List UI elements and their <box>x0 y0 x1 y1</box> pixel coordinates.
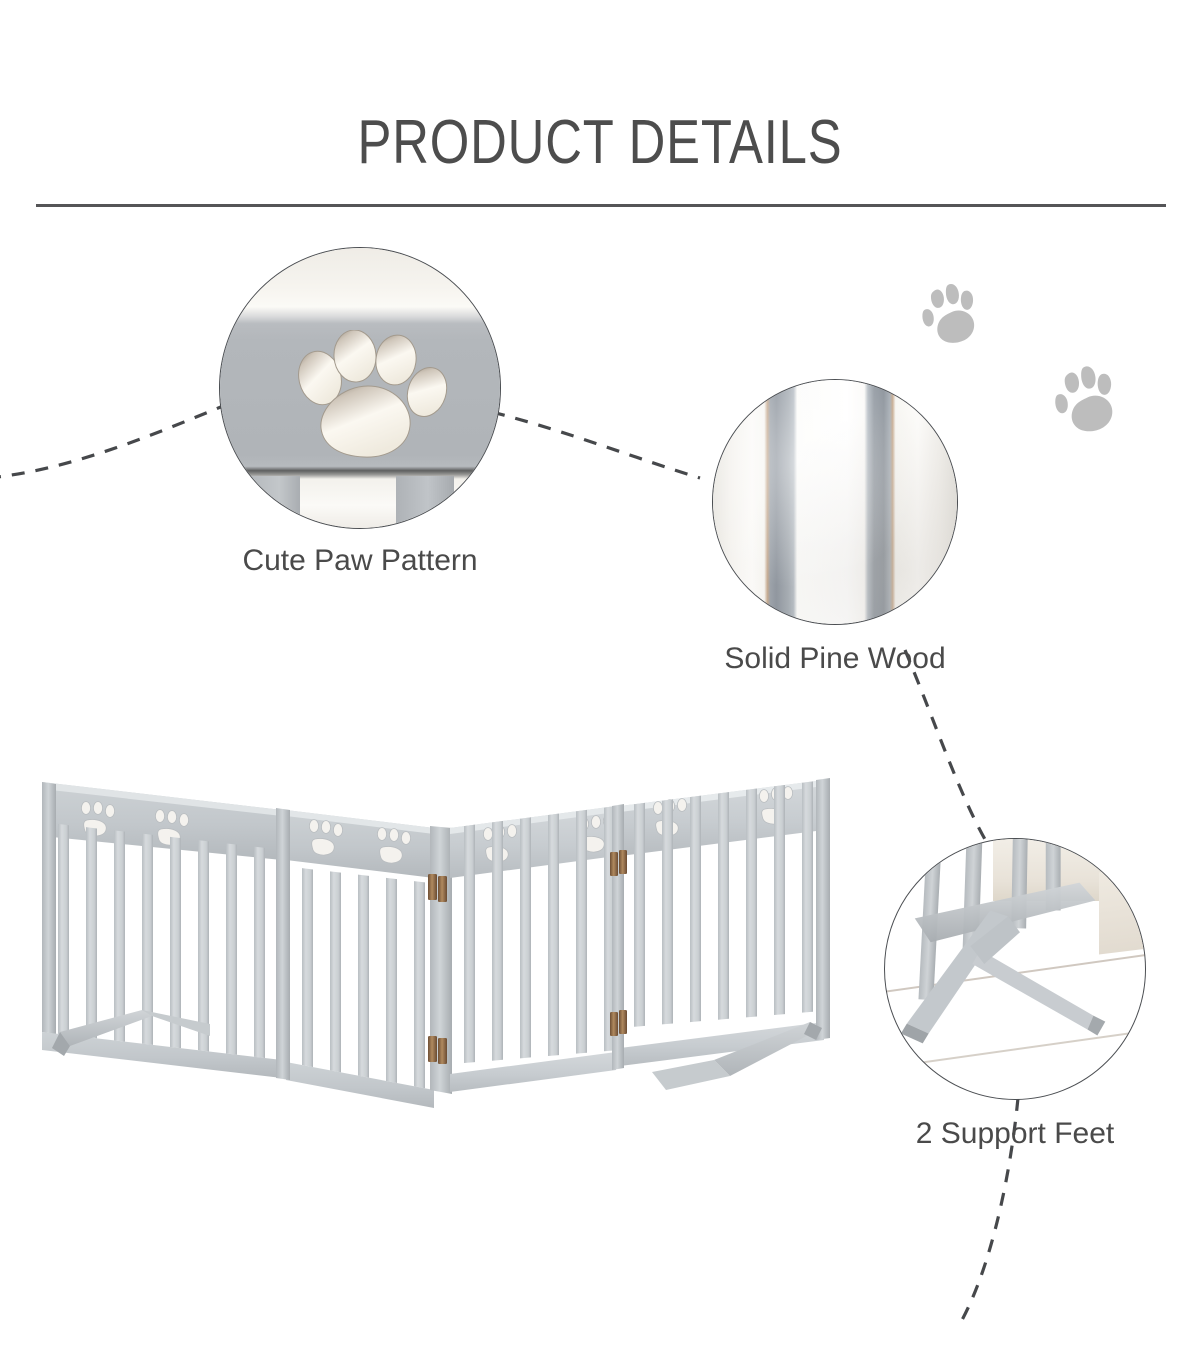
gate-post-mid-left <box>276 808 290 1080</box>
page-title: PRODUCT DETAILS <box>108 108 1092 178</box>
callout-caption-cute-paw-pattern: Cute Paw Pattern <box>219 543 501 579</box>
callout-caption-solid-pine-wood: Solid Pine Wood <box>712 641 958 677</box>
paw-print-icon-1 <box>920 280 986 358</box>
gate-right-wing <box>450 760 830 1092</box>
gate-post-left <box>248 476 300 529</box>
lighting-overlay <box>713 380 957 624</box>
paw-print-icon-2 <box>1052 362 1126 448</box>
gate-post-right <box>396 476 454 529</box>
support-feet-illustration <box>885 839 1145 1099</box>
connector-wood-to-feet <box>905 650 990 848</box>
paw-cutout-icon <box>276 330 452 464</box>
product-image-folding-pet-gate <box>24 760 864 1210</box>
title-divider <box>36 204 1166 207</box>
gate-left-wing <box>42 782 434 1142</box>
callout-2-support-feet: 2 Support Feet <box>884 838 1146 1100</box>
gate-post-far-left <box>42 782 56 1034</box>
connector-paw-to-wood <box>492 412 700 478</box>
gate-post-far-right <box>816 778 830 1040</box>
callout-image-solid-pine-wood <box>712 379 958 625</box>
callout-image-cute-paw-pattern <box>219 247 501 529</box>
product-details-infographic: PRODUCT DETAILS <box>0 0 1200 1372</box>
connector-left-to-paw <box>0 404 228 478</box>
callout-image-2-support-feet <box>884 838 1146 1100</box>
callout-cute-paw-pattern: Cute Paw Pattern <box>219 247 501 529</box>
gate-center-fold <box>428 826 452 1094</box>
callout-solid-pine-wood: Solid Pine Wood <box>712 379 958 625</box>
callout-caption-2-support-feet: 2 Support Feet <box>884 1116 1146 1152</box>
